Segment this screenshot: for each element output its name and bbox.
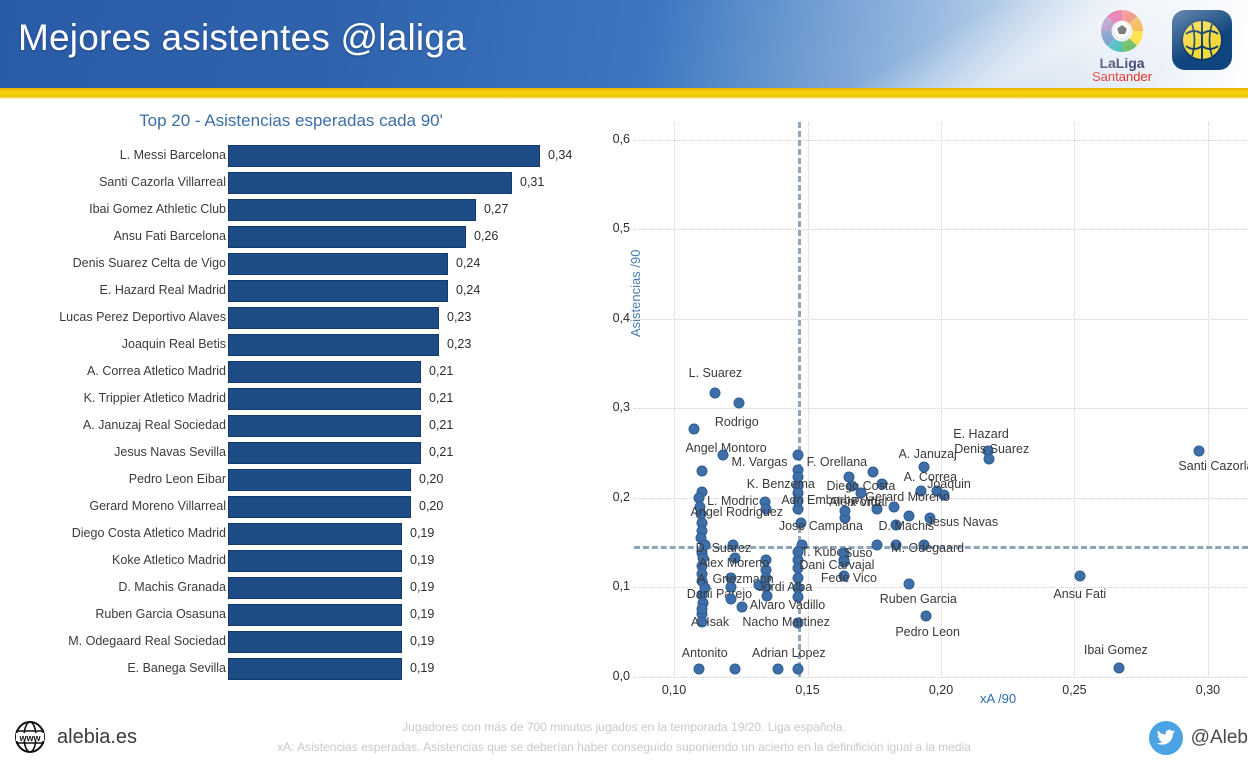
laliga-logo: LaLiga Santander	[1086, 8, 1158, 80]
bar-track	[228, 307, 558, 329]
x-axis-tick-label: 0,20	[929, 683, 953, 697]
bar-fill	[228, 469, 411, 491]
bar-row: Denis Suarez Celta de Vigo0,24	[0, 252, 582, 279]
scatter-point-label: Jesus Navas	[927, 515, 999, 529]
scatter-point-label: Antonito	[682, 646, 728, 660]
scatter-point-label: Alex Moreno	[699, 556, 769, 570]
bar-track	[228, 523, 558, 545]
scatter-point-label: Alvaro Vadillo	[750, 598, 826, 612]
scatter-point-label: Adri Embarba	[781, 493, 857, 507]
bar-row-value: 0,24	[456, 256, 480, 270]
x-axis-tick-label: 0,10	[662, 683, 686, 697]
bar-fill	[228, 631, 402, 653]
bar-fill	[228, 442, 421, 464]
bar-fill	[228, 172, 512, 194]
aleb-crest-logo	[1172, 10, 1232, 70]
bar-track	[228, 226, 558, 248]
bar-chart-rows: L. Messi Barcelona0,34Santi Cazorla Vill…	[0, 144, 582, 684]
bar-track	[228, 631, 558, 653]
bar-row-value: 0,21	[429, 364, 453, 378]
scatter-point[interactable]	[718, 450, 729, 461]
grid-line-horizontal	[634, 140, 1248, 141]
scatter-point[interactable]	[726, 594, 737, 605]
bar-row-label: K. Trippier Atletico Madrid	[84, 391, 226, 405]
bar-row-label: Jesus Navas Sevilla	[114, 445, 226, 459]
bar-track	[228, 334, 558, 356]
bar-track	[228, 253, 558, 275]
scatter-point[interactable]	[871, 540, 882, 551]
scatter-point-label: Nacho Martinez	[742, 615, 830, 629]
scatter-point[interactable]	[694, 663, 705, 674]
scatter-point[interactable]	[773, 663, 784, 674]
scatter-point-label: Fede Vico	[821, 571, 877, 585]
bar-row: A. Correa Atletico Madrid0,21	[0, 360, 582, 387]
laliga-wordmark: LaLiga	[1086, 56, 1158, 70]
bar-row-label: D. Machis Granada	[118, 580, 226, 594]
scatter-point-label: Rodrigo	[715, 415, 759, 429]
scatter-point-label: K. Benzema	[747, 477, 815, 491]
bar-row: L. Messi Barcelona0,34	[0, 144, 582, 171]
bar-track	[228, 550, 558, 572]
y-axis-tick-label: 0,4	[613, 311, 630, 325]
scatter-point-label: Dani Parejo	[687, 587, 752, 601]
scatter-point[interactable]	[697, 466, 708, 477]
bar-fill	[228, 307, 439, 329]
bar-track	[228, 388, 558, 410]
bar-row-label: E. Hazard Real Madrid	[100, 283, 226, 297]
twitter-handle: @Aleb	[1191, 727, 1248, 749]
bar-row-value: 0,19	[410, 580, 434, 594]
scatter-point-label: Angel Rodriguez	[691, 505, 783, 519]
bar-row: M. Odegaard Real Sociedad0,19	[0, 630, 582, 657]
bar-row: Diego Costa Atletico Madrid0,19	[0, 522, 582, 549]
bar-fill	[228, 253, 448, 275]
bar-track	[228, 604, 558, 626]
bar-row-label: A. Correa Atletico Madrid	[87, 364, 226, 378]
bar-row-label: Joaquin Real Betis	[122, 337, 226, 351]
bar-track	[228, 280, 558, 302]
scatter-point-label: Ansu Fati	[1053, 587, 1106, 601]
scatter-point[interactable]	[730, 663, 741, 674]
y-axis-tick-label: 0,5	[613, 221, 630, 235]
bar-track	[228, 577, 558, 599]
bar-row: D. Machis Granada0,19	[0, 576, 582, 603]
scatter-point[interactable]	[793, 663, 804, 674]
bar-row-value: 0,21	[429, 391, 453, 405]
bar-row: Jesus Navas Sevilla0,21	[0, 441, 582, 468]
bar-track	[228, 172, 558, 194]
bar-fill	[228, 334, 439, 356]
bar-row-value: 0,19	[410, 526, 434, 540]
bar-fill	[228, 604, 402, 626]
y-axis-tick-label: 0,6	[613, 132, 630, 146]
y-axis-tick-label: 0,2	[613, 490, 630, 504]
scatter-point-label: L. Suarez	[689, 366, 743, 380]
scatter-plot-area: Asistencias /90 0,100,150,200,250,300,00…	[634, 122, 1248, 677]
bar-fill	[228, 496, 411, 518]
grid-line-horizontal	[634, 229, 1248, 230]
bar-row-value: 0,23	[447, 337, 471, 351]
bar-fill	[228, 577, 402, 599]
page-header: Mejores asistentes @laliga LaLiga Santan…	[0, 0, 1248, 88]
footer-note-line-2: xA: Asistencias esperadas. Asistencias q…	[0, 737, 1248, 757]
scatter-point[interactable]	[867, 467, 878, 478]
scatter-point-label: A. Isak	[691, 615, 729, 629]
bar-row-label: Denis Suarez Celta de Vigo	[73, 256, 226, 270]
scatter-point[interactable]	[1113, 663, 1124, 674]
bar-row-value: 0,27	[484, 202, 508, 216]
scatter-point-label: Jordi Alba	[757, 580, 812, 594]
bar-row-label: Santi Cazorla Villarreal	[99, 175, 226, 189]
scatter-point-label: Santi Cazorla	[1178, 459, 1248, 473]
bar-row-label: Gerard Moreno Villarreal	[89, 499, 226, 513]
bar-fill	[228, 226, 466, 248]
twitter-icon[interactable]	[1149, 721, 1183, 755]
scatter-point-label: A. Januzaj	[898, 447, 956, 461]
scatter-point-label: Adrian Lopez	[752, 646, 826, 660]
bar-row-value: 0,34	[548, 148, 572, 162]
scatter-point[interactable]	[734, 398, 745, 409]
bar-row: Pedro Leon Eibar0,20	[0, 468, 582, 495]
grid-line-horizontal	[634, 319, 1248, 320]
grid-line-vertical	[1208, 122, 1209, 677]
bar-row-label: Koke Atletico Madrid	[112, 553, 226, 567]
bar-fill	[228, 523, 402, 545]
scatter-point-label: Denis Suarez	[954, 442, 1029, 456]
scatter-point[interactable]	[1193, 445, 1204, 456]
x-axis-tick-label: 0,25	[1062, 683, 1086, 697]
bar-track	[228, 361, 558, 383]
footer-note: Jugadores con más de 700 minutos jugados…	[0, 717, 1248, 757]
grid-line-vertical	[674, 122, 675, 677]
bar-chart-panel: Top 20 - Asistencias esperadas cada 90' …	[0, 99, 582, 699]
scatter-point[interactable]	[689, 424, 700, 435]
bar-row-label: L. Messi Barcelona	[120, 148, 226, 162]
bar-row: Ruben Garcia Osasuna0,19	[0, 603, 582, 630]
bar-row-value: 0,23	[447, 310, 471, 324]
bar-row: Lucas Perez Deportivo Alaves0,23	[0, 306, 582, 333]
bar-row-label: Lucas Perez Deportivo Alaves	[59, 310, 226, 324]
scatter-point-label: Ruben Garcia	[880, 592, 957, 606]
bar-fill	[228, 415, 421, 437]
brain-ball-icon	[1172, 10, 1232, 70]
bar-row-label: A. Januzaj Real Sociedad	[83, 418, 226, 432]
scatter-point-label: F. Orellana	[807, 455, 867, 469]
bar-fill	[228, 145, 540, 167]
bar-row-value: 0,19	[410, 607, 434, 621]
x-axis-tick-label: 0,15	[795, 683, 819, 697]
scatter-point[interactable]	[697, 603, 708, 614]
bar-row: E. Hazard Real Madrid0,24	[0, 279, 582, 306]
bar-row-label: E. Banega Sevilla	[127, 661, 226, 675]
bar-row: Santi Cazorla Villarreal0,31	[0, 171, 582, 198]
bar-row-label: Ansu Fati Barcelona	[113, 229, 226, 243]
scatter-point[interactable]	[737, 602, 748, 613]
bar-chart-title: Top 20 - Asistencias esperadas cada 90'	[0, 111, 582, 131]
x-axis-tick-label: 0,30	[1196, 683, 1220, 697]
bar-row: K. Trippier Atletico Madrid0,21	[0, 387, 582, 414]
bar-track	[228, 199, 558, 221]
bar-fill	[228, 388, 421, 410]
header-accent-stripe	[0, 88, 1248, 99]
bar-row-value: 0,20	[419, 499, 443, 513]
bar-row-label: Diego Costa Atletico Madrid	[72, 526, 226, 540]
bar-row-value: 0,26	[474, 229, 498, 243]
bar-row: Ibai Gomez Athletic Club0,27	[0, 198, 582, 225]
scatter-point[interactable]	[1074, 570, 1085, 581]
page-footer: www alebia.es Jugadores con más de 700 m…	[0, 709, 1248, 770]
scatter-point[interactable]	[710, 388, 721, 399]
twitter-bird-icon	[1156, 729, 1176, 747]
scatter-point-label: Jose Campana	[779, 519, 863, 533]
bar-row: Joaquin Real Betis0,23	[0, 333, 582, 360]
bar-row-value: 0,21	[429, 418, 453, 432]
bar-fill	[228, 550, 402, 572]
scatter-point[interactable]	[903, 578, 914, 589]
bar-fill	[228, 658, 402, 680]
bar-row: Koke Atletico Madrid0,19	[0, 549, 582, 576]
bar-track	[228, 415, 558, 437]
bar-track	[228, 658, 558, 680]
bar-track	[228, 469, 558, 491]
scatter-point-label: E. Hazard	[953, 427, 1009, 441]
bar-row-value: 0,19	[410, 634, 434, 648]
y-axis-title: Asistencias /90	[628, 250, 643, 337]
bar-row-value: 0,19	[410, 661, 434, 675]
grid-line-horizontal	[634, 408, 1248, 409]
scatter-point-label: Ibai Gomez	[1084, 643, 1148, 657]
bar-row-label: Ruben Garcia Osasuna	[95, 607, 226, 621]
footer-note-line-1: Jugadores con más de 700 minutos jugados…	[0, 717, 1248, 737]
santander-wordmark: Santander	[1086, 70, 1158, 83]
bar-row: Ansu Fati Barcelona0,26	[0, 225, 582, 252]
bar-row-value: 0,20	[419, 472, 443, 486]
bar-fill	[228, 361, 421, 383]
grid-line-horizontal	[634, 677, 1248, 678]
bar-fill	[228, 280, 448, 302]
y-axis-tick-label: 0,1	[613, 579, 630, 593]
bar-row: Gerard Moreno Villarreal0,20	[0, 495, 582, 522]
bar-row-value: 0,19	[410, 553, 434, 567]
bar-row-value: 0,31	[520, 175, 544, 189]
y-axis-tick-label: 0,3	[613, 400, 630, 414]
laliga-mark-icon	[1086, 8, 1158, 56]
page-title: Mejores asistentes @laliga	[18, 17, 466, 59]
bar-track	[228, 496, 558, 518]
bar-row: E. Banega Sevilla0,19	[0, 657, 582, 684]
scatter-point-label: Pedro Leon	[895, 625, 960, 639]
scatter-point-label: M. Vargas	[731, 455, 787, 469]
bar-track	[228, 145, 558, 167]
bar-row-label: M. Odegaard Real Sociedad	[68, 634, 226, 648]
twitter-block[interactable]: @Aleb	[1149, 721, 1248, 755]
bar-track	[228, 442, 558, 464]
bar-fill	[228, 199, 476, 221]
scatter-point-label: M. Odegaard	[891, 541, 964, 555]
bar-row-value: 0,21	[429, 445, 453, 459]
scatter-chart-panel: Asistencias /90 0,100,150,200,250,300,00…	[582, 99, 1248, 709]
bar-row-label: Pedro Leon Eibar	[129, 472, 226, 486]
bar-row: A. Januzaj Real Sociedad0,21	[0, 414, 582, 441]
bar-row-value: 0,24	[456, 283, 480, 297]
y-axis-tick-label: 0,0	[613, 669, 630, 683]
x-axis-title: xA /90	[980, 691, 1016, 706]
bar-row-label: Ibai Gomez Athletic Club	[89, 202, 226, 216]
scatter-point[interactable]	[793, 450, 804, 461]
scatter-point[interactable]	[921, 611, 932, 622]
